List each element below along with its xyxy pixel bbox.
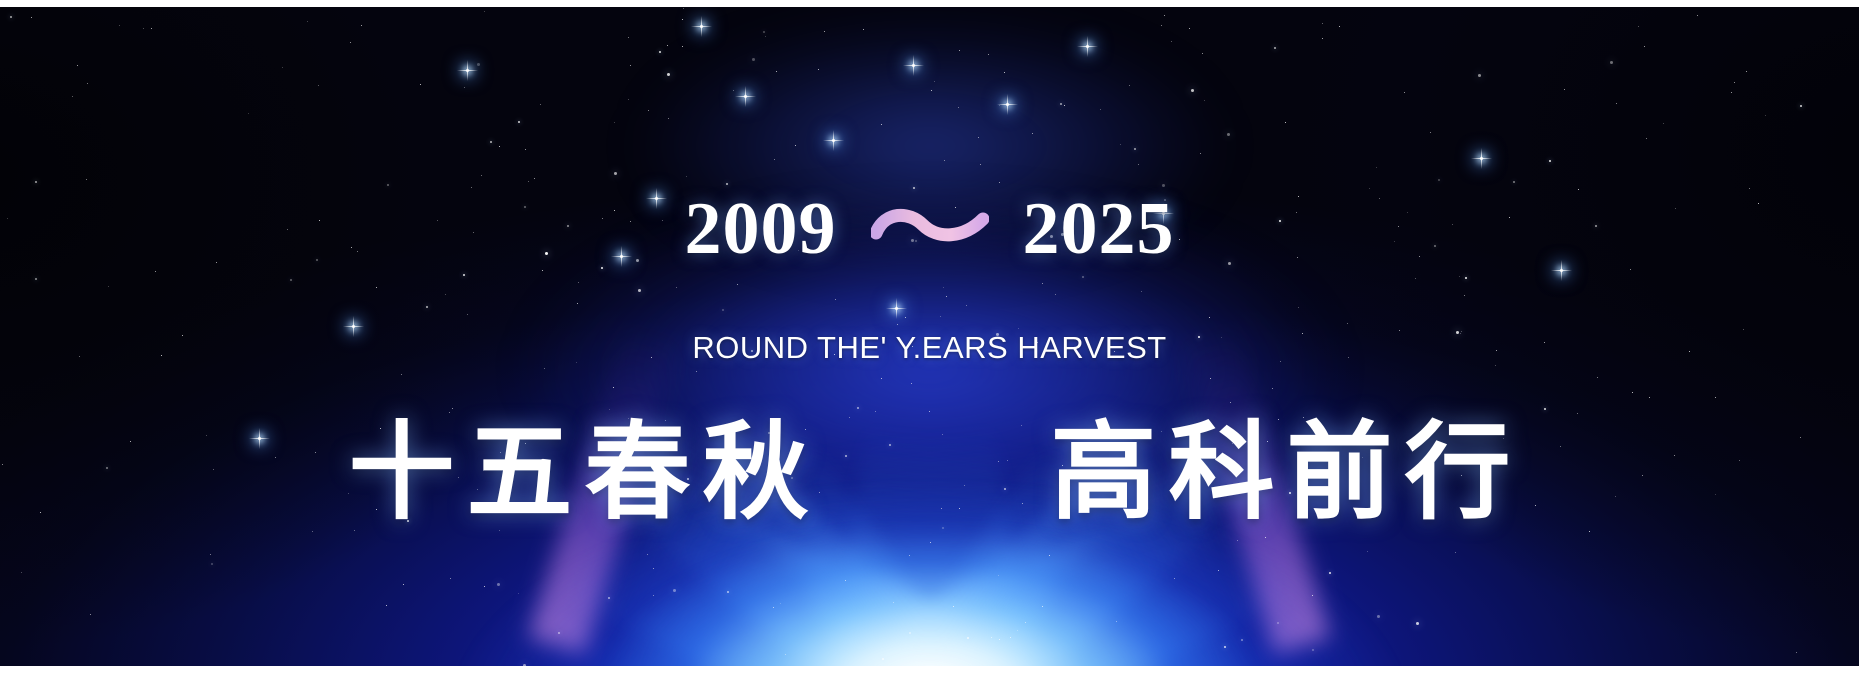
year-range: 2009 2025 (685, 192, 1175, 266)
wave-tilde-icon (871, 205, 989, 253)
bottom-white-strip (0, 666, 1859, 680)
banner-content: 2009 2025 (0, 7, 1859, 666)
slogan-left: 十五春秋 (337, 416, 821, 530)
banner-artwork: 2009 2025 (0, 7, 1859, 666)
slogan-right: 高科前行 (1039, 416, 1523, 530)
banner-subtitle: ROUND THE' Y.EARS HARVEST (692, 330, 1166, 366)
year-end: 2025 (1023, 192, 1175, 266)
banner-stage: 2009 2025 (0, 0, 1859, 680)
top-white-strip (0, 0, 1859, 7)
year-start: 2009 (685, 192, 837, 266)
slogan-row: 十五春秋 高科前行 (337, 416, 1523, 530)
